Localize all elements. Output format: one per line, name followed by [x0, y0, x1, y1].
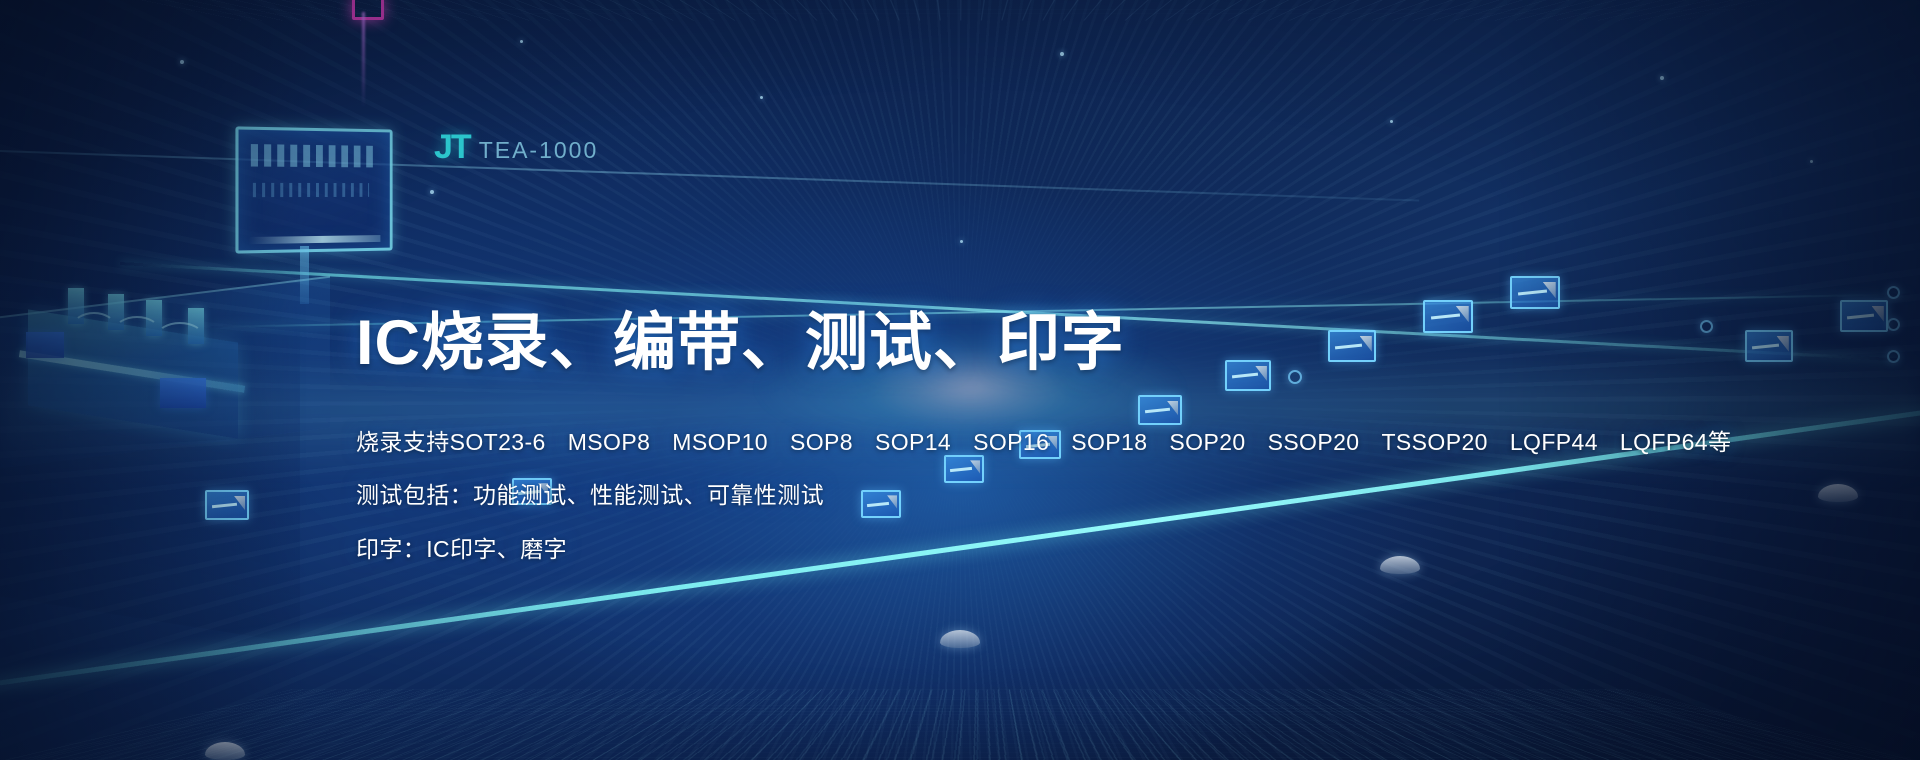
package-item: SOP14	[875, 429, 951, 457]
test-scope-line: 测试包括：功能测试、性能测试、可靠性测试	[356, 482, 1636, 510]
burn-support-label: 烧录支持	[356, 429, 450, 455]
package-item: SOP8	[790, 429, 853, 457]
package-item: SOP18	[1071, 429, 1147, 457]
hero-banner: JT TEA-1000 IC烧录、编带、测试、印字 烧录支持SOT23-6MSO…	[0, 0, 1920, 760]
package-item: SSOP20	[1268, 429, 1360, 457]
package-item: MSOP8	[568, 429, 651, 457]
page-title: IC烧录、编带、测试、印字	[356, 310, 1636, 377]
package-item: TSSOP20	[1381, 429, 1487, 457]
package-item: LQFP44	[1510, 429, 1598, 457]
package-item: LQFP64等	[1620, 429, 1731, 457]
burn-support-line: 烧录支持SOT23-6MSOP8MSOP10SOP8SOP14SOP16SOP1…	[356, 429, 1636, 457]
brand-logo-text: JT	[434, 128, 470, 167]
package-item: SOP16	[973, 429, 1049, 457]
package-item: SOP20	[1169, 429, 1245, 457]
marking-scope-line: 印字：IC印字、磨字	[356, 536, 1636, 564]
hero-copy-block: IC烧录、编带、测试、印字 烧录支持SOT23-6MSOP8MSOP10SOP8…	[356, 310, 1636, 564]
package-list: SOT23-6MSOP8MSOP10SOP8SOP14SOP16SOP18SOP…	[450, 429, 1732, 455]
brand-watermark: JT TEA-1000	[434, 128, 598, 167]
package-item: MSOP10	[672, 429, 768, 457]
package-item: SOT23-6	[450, 429, 546, 457]
brand-model-text: TEA-1000	[479, 137, 599, 164]
